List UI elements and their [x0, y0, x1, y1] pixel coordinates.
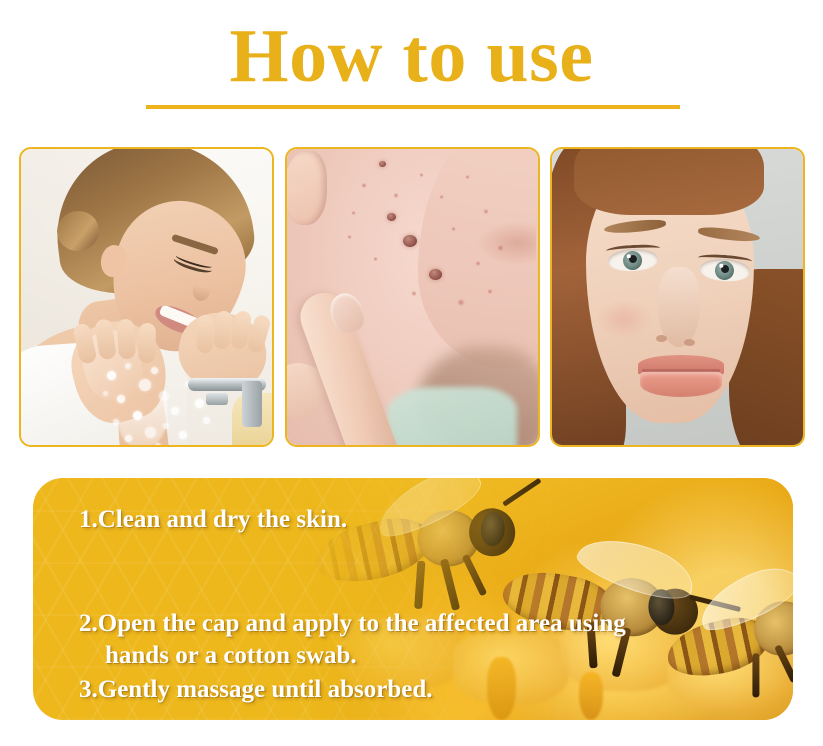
water-droplet	[145, 427, 156, 438]
faucet-neck	[242, 381, 262, 427]
finger	[213, 310, 233, 349]
water-droplet	[103, 391, 108, 396]
pimple	[387, 213, 396, 221]
water-droplet	[139, 379, 151, 391]
water-droplet	[179, 431, 187, 439]
clear-skin-portrait-photo-image	[552, 149, 803, 445]
water-droplet	[125, 435, 132, 442]
water-droplet	[171, 407, 179, 415]
skin-blemish	[361, 183, 367, 188]
finger	[197, 315, 213, 353]
skin-blemish	[393, 193, 399, 198]
faucet-ring	[206, 393, 228, 405]
washing-face-photo[interactable]	[19, 147, 274, 447]
pimple	[403, 235, 417, 247]
water-droplet	[113, 419, 119, 425]
water-droplet	[163, 423, 169, 429]
right-hand-fingers	[197, 309, 272, 349]
lower-lip	[640, 371, 722, 397]
title-underline-rule	[146, 105, 680, 109]
bee-antenna	[503, 478, 542, 507]
lip-line	[642, 369, 720, 372]
skin-blemish	[351, 211, 356, 215]
skin-blemish	[373, 257, 378, 261]
skin-blemish	[487, 289, 493, 294]
washing-face-photo-image	[21, 149, 272, 445]
left-hand-fingers	[81, 317, 159, 359]
photo-gallery	[19, 147, 805, 445]
skin-blemish	[497, 245, 504, 251]
water-droplet	[203, 417, 210, 424]
finger	[94, 318, 117, 360]
cheek-blush	[596, 299, 652, 339]
page-title: How to use	[0, 16, 823, 96]
finger	[117, 319, 136, 360]
skin-blemish	[465, 175, 470, 179]
skin-blemish	[483, 209, 489, 214]
pimple	[429, 269, 442, 280]
water-droplet	[195, 399, 204, 408]
water-droplet	[155, 443, 161, 445]
water-droplet	[117, 395, 125, 403]
water-droplet	[125, 363, 131, 369]
instruction-step-1: 1.Clean and dry the skin.	[79, 504, 347, 536]
instruction-step-2-line-2: hands or a cotton swab.	[79, 640, 626, 672]
water-droplet	[159, 391, 169, 401]
nostril-right	[684, 339, 695, 346]
instruction-step-2-line-1: 2.Open the cap and apply to the affected…	[79, 610, 626, 637]
skin-blemish	[439, 195, 444, 199]
hair-top	[574, 149, 764, 215]
skin-blemish	[457, 299, 465, 306]
nostril-left	[656, 335, 667, 342]
skin-blemish	[347, 235, 352, 239]
clear-skin-portrait-photo[interactable]	[550, 147, 805, 447]
water-droplet	[151, 367, 158, 374]
header-block: How to use	[0, 0, 823, 130]
pimple	[379, 161, 386, 167]
skin-blemish	[411, 291, 417, 296]
instructions-panel: 1.Clean and dry the skin. 2.Open the cap…	[33, 478, 793, 720]
skin-blemish	[475, 261, 481, 266]
skin-blemish	[419, 173, 424, 177]
water-droplet	[133, 411, 142, 420]
instruction-step-3: 3.Gently massage until absorbed.	[79, 674, 433, 706]
bee-leg	[752, 654, 759, 698]
acne-closeup-photo[interactable]	[285, 147, 540, 447]
acne-closeup-photo-image	[287, 149, 538, 445]
water-droplet	[107, 371, 116, 380]
finger	[138, 323, 156, 363]
skin-blemish	[451, 227, 456, 231]
